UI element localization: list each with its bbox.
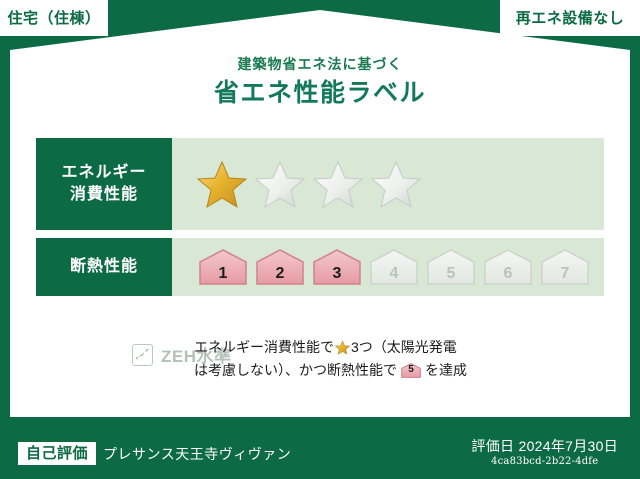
- star-icon-inline: [335, 340, 350, 355]
- insulation-level-badge: 4: [367, 246, 421, 288]
- insulation-level-badge: 5: [424, 246, 478, 288]
- energy-performance-value-cell: [172, 138, 604, 230]
- evaluation-type-badge: 自己評価: [18, 442, 96, 465]
- insulation-level-badge-inline: 5: [400, 362, 422, 379]
- insulation-level-badge: 1: [196, 246, 250, 288]
- insulation-level-value: 1: [219, 265, 228, 283]
- zeh-standard-mark: ZEH水準: [36, 330, 186, 367]
- title-subtitle: 建築物省エネ法に基づく: [0, 56, 640, 73]
- star-icon-empty: [254, 159, 306, 209]
- star-icon-empty: [370, 159, 422, 209]
- star-icon-filled: [196, 159, 248, 209]
- insulation-level-value: 2: [276, 265, 285, 283]
- zeh-description: エネルギー消費性能で 3つ（太陽光発電 は考慮しない）、かつ断熱性能で 5 を達…: [186, 330, 604, 382]
- zeh-desc-line2-post: を達成: [425, 359, 467, 382]
- footer-right: 評価日 2024年7月30日 4ca83bcd-2b22-4dfe: [471, 437, 618, 467]
- insulation-level-badge: 7: [538, 246, 592, 288]
- renewable-equipment-tag: 再エネ設備なし: [500, 0, 640, 36]
- zeh-chart-icon: [132, 344, 153, 366]
- insulation-level-value-inline: 5: [408, 362, 414, 379]
- page-title: 建築物省エネ法に基づく 省エネ性能ラベル: [0, 56, 640, 108]
- zeh-section: ZEH水準 エネルギー消費性能で 3つ（太陽光発電 は考慮しない）、かつ断熱性能…: [36, 330, 604, 382]
- insulation-level-value: 3: [333, 265, 342, 283]
- energy-performance-label-cell: エネルギー 消費性能: [36, 138, 172, 230]
- insulation-performance-value-cell: 1 2 3: [172, 238, 604, 296]
- zeh-description-line1: エネルギー消費性能で 3つ（太陽光発電: [194, 336, 604, 359]
- insulation-level-badge: 6: [481, 246, 535, 288]
- insulation-level-value: 5: [447, 265, 456, 283]
- zeh-description-line2: は考慮しない）、かつ断熱性能で 5 を達成: [194, 359, 604, 382]
- zeh-desc-line2-pre: は考慮しない）、かつ断熱性能で: [194, 359, 397, 382]
- footer-left: 自己評価 プレサンス天王寺ヴィヴァン: [18, 442, 291, 465]
- evaluation-date: 評価日 2024年7月30日: [471, 437, 618, 455]
- energy-performance-label: 住宅（住棟） 再エネ設備なし 建築物省エネ法に基づく 省エネ性能ラベル エネルギ…: [0, 0, 640, 479]
- star-rating: [196, 159, 422, 209]
- insulation-label-line1: 断熱性能: [70, 256, 138, 278]
- energy-label-line1: エネルギー: [61, 162, 146, 184]
- star-icon-empty: [312, 159, 364, 209]
- insulation-level-badge: 3: [310, 246, 364, 288]
- insulation-level-value: 4: [390, 265, 399, 283]
- insulation-level-value: 6: [504, 265, 513, 283]
- energy-label-line2: 消費性能: [70, 184, 138, 206]
- zeh-desc-line1-post: 3つ（太陽光発電: [351, 336, 457, 359]
- insulation-performance-label-cell: 断熱性能: [36, 238, 172, 296]
- property-name: プレサンス天王寺ヴィヴァン: [103, 444, 291, 464]
- insulation-level-badge: 2: [253, 246, 307, 288]
- insulation-performance-row: 断熱性能 1: [36, 238, 604, 296]
- insulation-level-value: 7: [561, 265, 570, 283]
- title-main: 省エネ性能ラベル: [0, 78, 640, 108]
- zeh-desc-line1-pre: エネルギー消費性能で: [194, 336, 334, 359]
- energy-performance-row: エネルギー 消費性能: [36, 138, 604, 230]
- evaluation-id: 4ca83bcd-2b22-4dfe: [471, 456, 618, 467]
- building-type-tag: 住宅（住棟）: [0, 0, 108, 36]
- insulation-level-scale: 1 2 3: [196, 246, 592, 288]
